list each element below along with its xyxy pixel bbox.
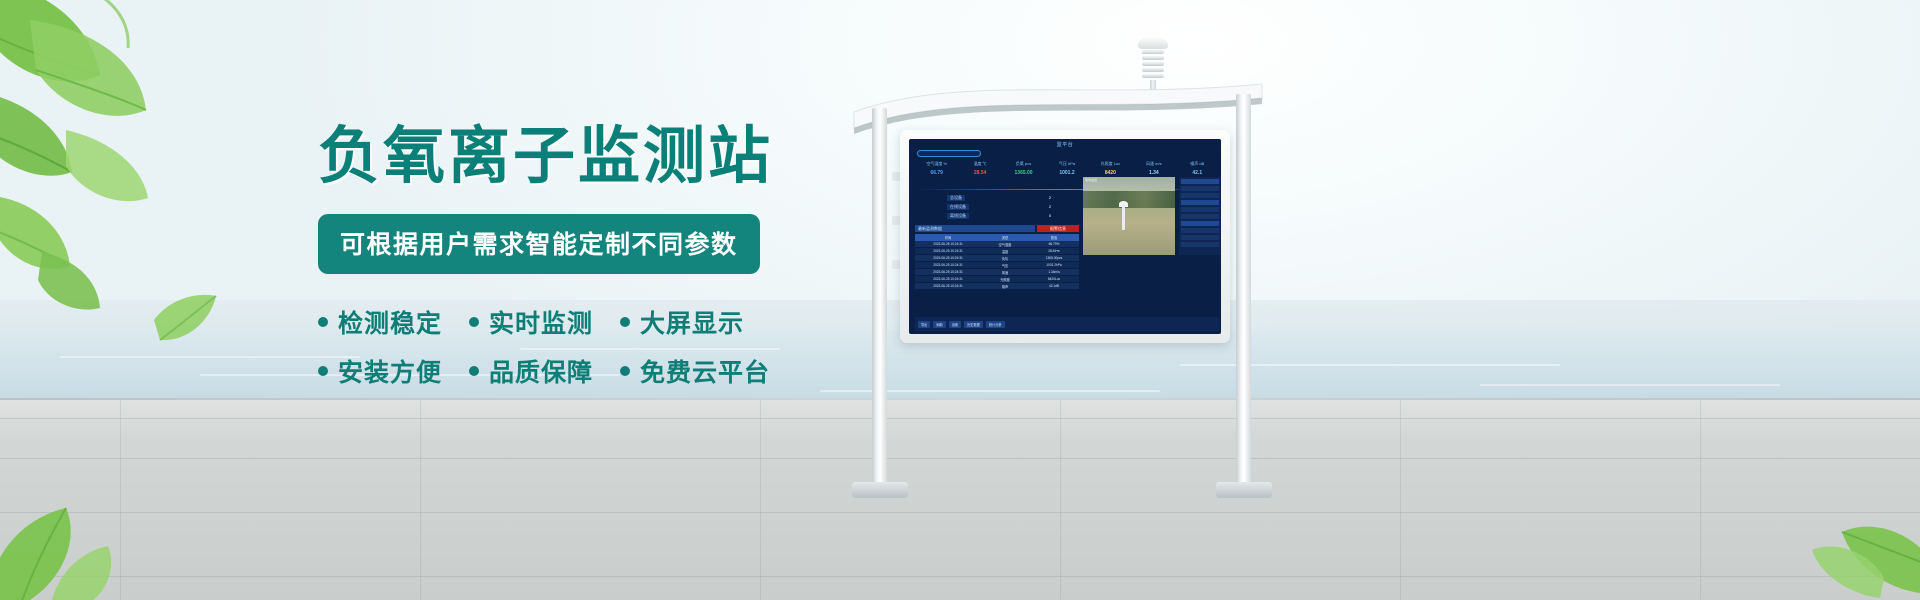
metric-label: 光照度 Lux bbox=[1089, 161, 1132, 167]
metric-label: 温度 ℃ bbox=[958, 161, 1001, 167]
cell-time: 2023-06-25 10:24:31 bbox=[915, 270, 981, 274]
toolbar-chip[interactable]: 设置 bbox=[949, 321, 961, 328]
camera-label: 现场监控 bbox=[1085, 178, 1097, 182]
count-row: 在线设备 2 bbox=[947, 204, 1057, 210]
cell-time: 2023-06-25 10:24:31 bbox=[915, 249, 981, 253]
column-header: 时间 bbox=[915, 235, 981, 240]
camera-sensor-mast bbox=[1122, 204, 1125, 230]
toolbar-chip[interactable]: 统计分析 bbox=[986, 321, 1005, 328]
metric-label: 气压 hPa bbox=[1045, 161, 1088, 167]
cell-type: 光照度 bbox=[981, 277, 1029, 282]
feature-label: 安装方便 bbox=[338, 353, 442, 389]
count-value: 0 bbox=[1043, 213, 1057, 219]
cell-type: 噪声 bbox=[981, 284, 1029, 289]
toolbar-chip[interactable]: 刷新 bbox=[933, 321, 945, 328]
dashboard-title: 监平台 bbox=[909, 141, 1221, 148]
dashboard-toolbar: 导出 刷新 设置 历史数据 统计分析 bbox=[915, 317, 1219, 331]
count-value: 2 bbox=[1043, 195, 1057, 201]
subtitle-pill: 可根据用户需求智能定制不同参数 bbox=[318, 214, 760, 274]
metric-value: 66.79 bbox=[915, 170, 958, 176]
feature-item-0: 检测稳定 bbox=[318, 304, 442, 340]
cell-type: 温度 bbox=[981, 249, 1029, 254]
feature-label: 大屏显示 bbox=[640, 304, 744, 340]
feature-list: 检测稳定 实时监测 大屏显示 安装方便 品质保障 bbox=[318, 304, 748, 389]
feature-item-4: 品质保障 bbox=[469, 353, 593, 389]
metric-card: 空气湿度 % 66.79 bbox=[915, 161, 958, 187]
cell-value: 1.34m/s bbox=[1029, 270, 1079, 274]
metric-value: 1365.00 bbox=[1002, 170, 1045, 176]
cell-time: 2023-06-25 10:24:31 bbox=[915, 277, 981, 281]
banner-stage: 负氧离子监测站 可根据用户需求智能定制不同参数 检测稳定 实时监测 大屏显示 bbox=[0, 0, 1920, 600]
metric-label: 负氧 pcs bbox=[1002, 161, 1045, 167]
cell-value: 28.54℃ bbox=[1029, 249, 1079, 253]
cell-time: 2023-06-25 10:24:31 bbox=[915, 284, 981, 288]
count-row: 离线设备 0 bbox=[947, 213, 1057, 219]
cell-value: 66.79% bbox=[1029, 242, 1079, 246]
cell-time: 2023-06-25 10:24:31 bbox=[915, 256, 981, 260]
leaf-decoration-top-left bbox=[0, 0, 230, 210]
bullet-dot-icon bbox=[620, 366, 630, 376]
support-post-left bbox=[872, 108, 887, 486]
measurements-table: 时间 类型 数值 2023-06-25 10:24:31 空气湿度 66.79%… bbox=[915, 234, 1079, 290]
bullet-dot-icon bbox=[318, 317, 328, 327]
table-row: 2023-06-25 10:24:31 温度 28.54℃ bbox=[915, 248, 1079, 255]
cell-time: 2023-06-25 10:24:31 bbox=[915, 263, 981, 267]
bullet-dot-icon bbox=[318, 366, 328, 376]
cell-type: 风速 bbox=[981, 270, 1029, 275]
cell-value: 1001.2hPa bbox=[1029, 263, 1079, 267]
leaf-decoration-bottom-left bbox=[0, 460, 130, 600]
live-camera-view[interactable]: 现场监控 bbox=[1083, 177, 1175, 255]
leaf-decoration-left-mid bbox=[0, 190, 110, 320]
latest-data-header: 最新监测数据 bbox=[915, 225, 1035, 232]
page-title: 负氧离子监测站 bbox=[318, 126, 748, 188]
canopy-roof bbox=[848, 82, 1268, 134]
bullet-dot-icon bbox=[469, 317, 479, 327]
feature-item-2: 大屏显示 bbox=[620, 304, 744, 340]
count-label: 在线设备 bbox=[947, 204, 969, 210]
column-header: 类型 bbox=[981, 235, 1029, 240]
count-label: 总设备 bbox=[947, 195, 965, 201]
feature-item-5: 免费云平台 bbox=[620, 353, 770, 389]
table-row: 2023-06-25 10:24:31 空气湿度 66.79% bbox=[915, 241, 1079, 248]
table-row: 2023-06-25 10:24:31 噪声 42.1dB bbox=[915, 283, 1079, 290]
cell-type: 空气湿度 bbox=[981, 242, 1029, 247]
count-value: 2 bbox=[1043, 204, 1057, 210]
table-row: 2023-06-25 10:24:31 气压 1001.2hPa bbox=[915, 262, 1079, 269]
metric-value: 1.34 bbox=[1132, 170, 1175, 176]
feature-label: 检测稳定 bbox=[338, 304, 442, 340]
cell-value: 8420Lux bbox=[1029, 277, 1079, 281]
monitoring-station-illustration: 监平台 空气湿度 % 66.79 温度 ℃ 28.54 负氧 pcs 1365.… bbox=[840, 20, 1280, 520]
feature-item-3: 安装方便 bbox=[318, 353, 442, 389]
table-row: 2023-06-25 10:24:31 负氧 1365.00pcs bbox=[915, 255, 1079, 262]
metric-card: 温度 ℃ 28.54 bbox=[958, 161, 1001, 187]
dashboard-screen[interactable]: 监平台 空气湿度 % 66.79 温度 ℃ 28.54 负氧 pcs 1365.… bbox=[909, 139, 1221, 334]
cell-value: 42.1dB bbox=[1029, 284, 1079, 288]
metric-value: 1001.2 bbox=[1045, 170, 1088, 176]
table-header-row: 时间 类型 数值 bbox=[915, 234, 1079, 241]
cell-value: 1365.00pcs bbox=[1029, 256, 1079, 260]
feature-label: 实时监测 bbox=[489, 304, 593, 340]
toolbar-chip[interactable]: 历史数据 bbox=[964, 321, 983, 328]
feature-label: 品质保障 bbox=[489, 353, 593, 389]
leaf-decoration-floating bbox=[150, 290, 220, 350]
station-select-dropdown[interactable] bbox=[917, 150, 981, 157]
bullet-dot-icon bbox=[469, 366, 479, 376]
table-row: 2023-06-25 10:24:31 风速 1.34m/s bbox=[915, 269, 1079, 276]
metric-value: 28.54 bbox=[958, 170, 1001, 176]
feature-label: 免费云平台 bbox=[640, 353, 770, 389]
feature-item-1: 实时监测 bbox=[469, 304, 593, 340]
metric-label: 噪声 dB bbox=[1176, 161, 1219, 167]
device-counts-panel: 总设备 2 在线设备 2 离线设备 0 bbox=[947, 195, 1057, 222]
alarm-header: 报警信息 bbox=[1037, 225, 1079, 232]
metric-card: 负氧 pcs 1365.00 bbox=[1002, 161, 1045, 187]
leaf-decoration-bottom-right bbox=[1760, 470, 1920, 600]
post-base-right bbox=[1216, 482, 1272, 498]
cell-time: 2023-06-25 10:24:31 bbox=[915, 242, 981, 246]
camera-treeline bbox=[1083, 191, 1175, 208]
cell-type: 气压 bbox=[981, 263, 1029, 268]
metric-value: 42.1 bbox=[1176, 170, 1219, 176]
table-row: 2023-06-25 10:24:31 光照度 8420Lux bbox=[915, 276, 1079, 283]
post-base-left bbox=[852, 482, 908, 498]
cell-type: 负氧 bbox=[981, 256, 1029, 261]
count-label: 离线设备 bbox=[947, 213, 969, 219]
side-info-panel bbox=[1179, 177, 1221, 255]
metric-label: 空气湿度 % bbox=[915, 161, 958, 167]
feature-row: 安装方便 品质保障 免费云平台 bbox=[318, 353, 748, 389]
bullet-dot-icon bbox=[620, 317, 630, 327]
banner-text-block: 负氧离子监测站 可根据用户需求智能定制不同参数 检测稳定 实时监测 大屏显示 bbox=[318, 126, 748, 402]
feature-row: 检测稳定 实时监测 大屏显示 bbox=[318, 304, 748, 340]
column-header: 数值 bbox=[1029, 235, 1079, 240]
display-cabinet: 监平台 空气湿度 % 66.79 温度 ℃ 28.54 负氧 pcs 1365.… bbox=[900, 130, 1230, 343]
support-post-right bbox=[1236, 94, 1251, 486]
metric-value: 8420 bbox=[1089, 170, 1132, 176]
count-row: 总设备 2 bbox=[947, 195, 1057, 201]
toolbar-chip[interactable]: 导出 bbox=[918, 321, 930, 328]
metric-label: 风速 m/s bbox=[1132, 161, 1175, 167]
